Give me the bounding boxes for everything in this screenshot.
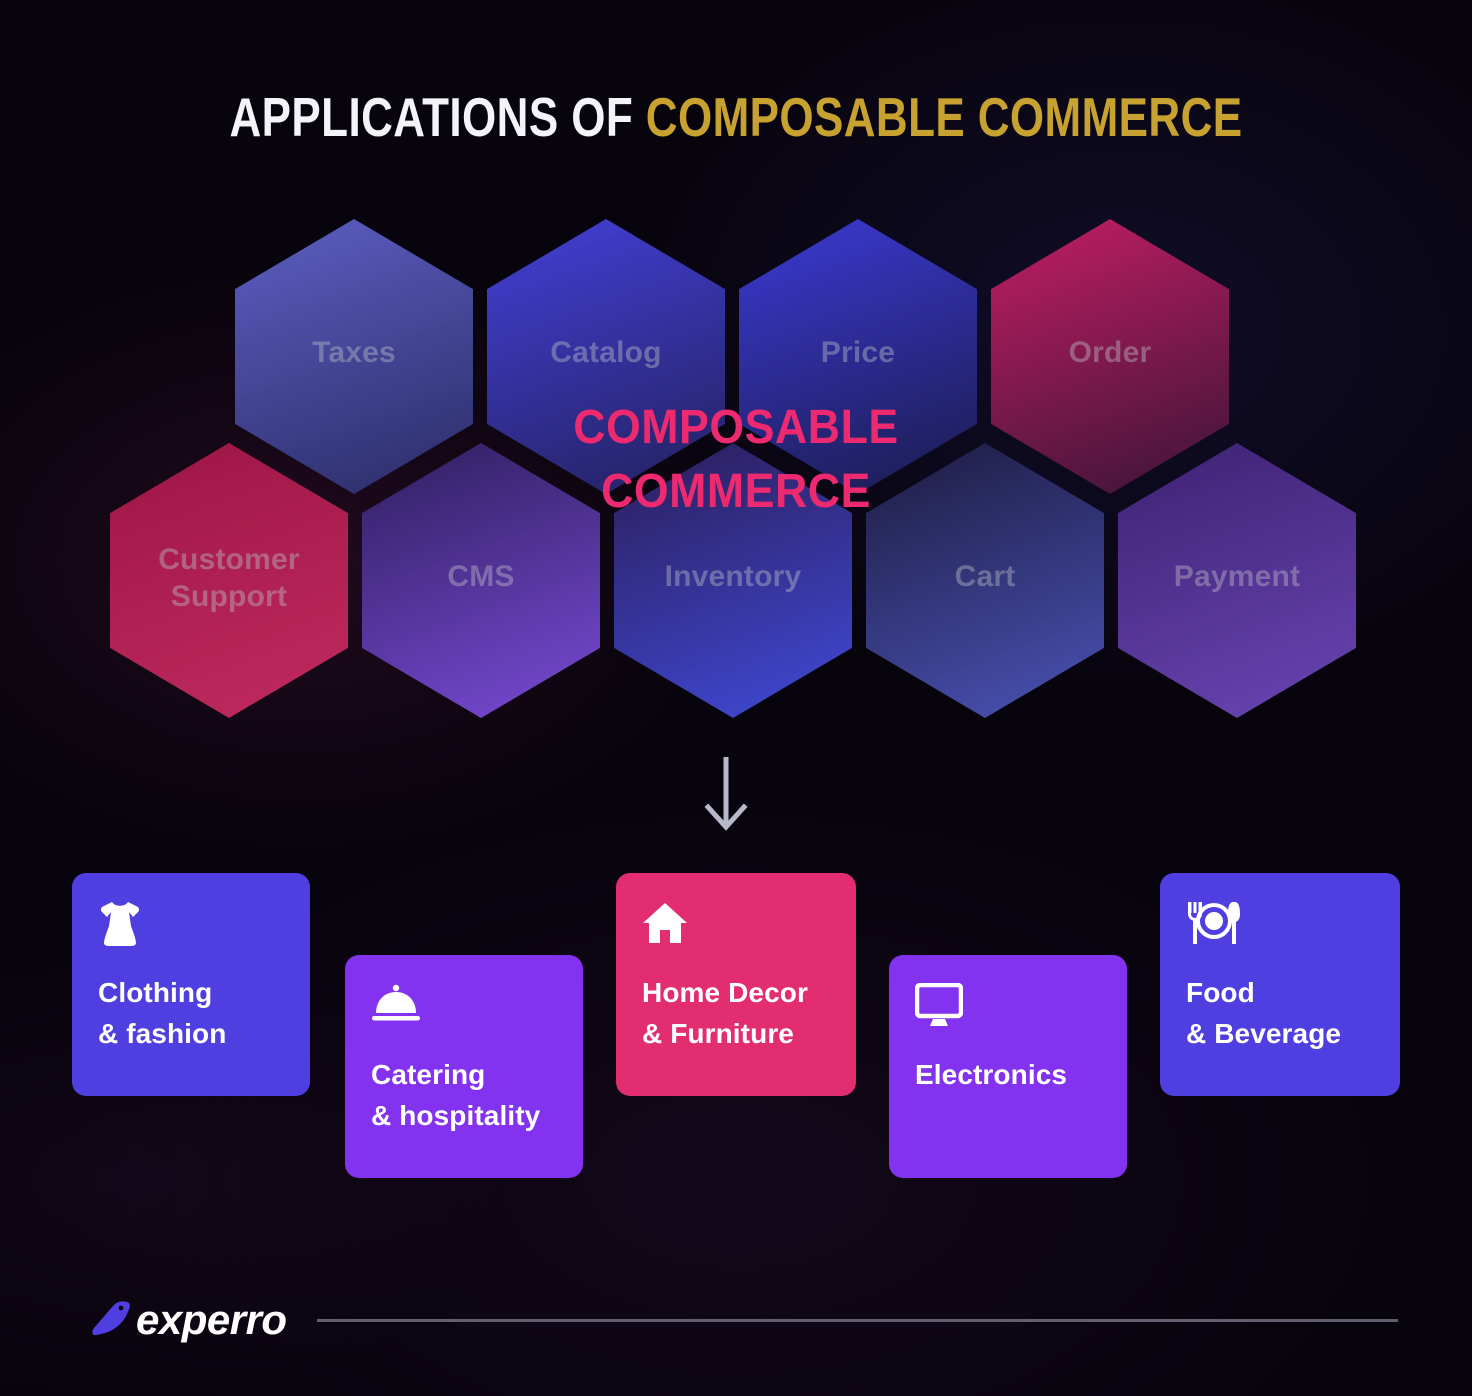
brand-logo[interactable]: experro	[88, 1296, 287, 1344]
cutlery-icon	[1186, 901, 1374, 947]
brand-name: experro	[136, 1296, 287, 1344]
bird-icon	[88, 1300, 134, 1340]
hex-taxes[interactable]: Taxes	[235, 219, 473, 494]
hex-label: Inventory	[665, 559, 802, 596]
card-label: Home Decor & Furniture	[642, 973, 830, 1054]
card-clothing-fashion[interactable]: Clothing & fashion	[72, 873, 310, 1096]
footer-divider	[317, 1319, 1398, 1322]
card-catering-hospitality[interactable]: Catering & hospitality	[345, 955, 583, 1178]
infographic-canvas: APPLICATIONS OF COMPOSABLE COMMERCE Taxe…	[0, 0, 1472, 1396]
card-electronics[interactable]: Electronics	[889, 955, 1127, 1178]
card-home-decor-furniture[interactable]: Home Decor & Furniture	[616, 873, 856, 1096]
card-label: Electronics	[915, 1055, 1101, 1096]
house-icon	[642, 901, 830, 947]
center-wordmark-line-2: COMMERCE	[504, 460, 969, 524]
card-label: Clothing & fashion	[98, 973, 284, 1054]
hex-label: Payment	[1174, 559, 1300, 596]
hex-order[interactable]: Order	[991, 219, 1229, 494]
hex-label: Price	[821, 335, 895, 372]
card-food-beverage[interactable]: Food & Beverage	[1160, 873, 1400, 1096]
card-label: Food & Beverage	[1186, 973, 1374, 1054]
arrow-down-icon	[700, 755, 752, 833]
hex-customer-support[interactable]: Customer Support	[110, 443, 348, 718]
hex-payment[interactable]: Payment	[1118, 443, 1356, 718]
food-dome-icon	[371, 983, 557, 1029]
hexagon-grid: TaxesCatalogPriceOrderCustomer SupportCM…	[0, 0, 1472, 760]
hex-label: Cart	[955, 559, 1016, 596]
center-wordmark-line-1: COMPOSABLE	[504, 396, 969, 460]
hex-label: Order	[1069, 335, 1152, 372]
monitor-icon	[915, 983, 1101, 1029]
hex-label: Customer Support	[158, 542, 300, 615]
center-wordmark: COMPOSABLE COMMERCE	[504, 396, 969, 525]
hex-label: CMS	[447, 559, 514, 596]
card-label: Catering & hospitality	[371, 1055, 557, 1136]
hex-label: Catalog	[550, 335, 661, 372]
hex-label: Taxes	[312, 335, 396, 372]
dress-icon	[98, 901, 284, 947]
footer: experro	[88, 1290, 1398, 1350]
